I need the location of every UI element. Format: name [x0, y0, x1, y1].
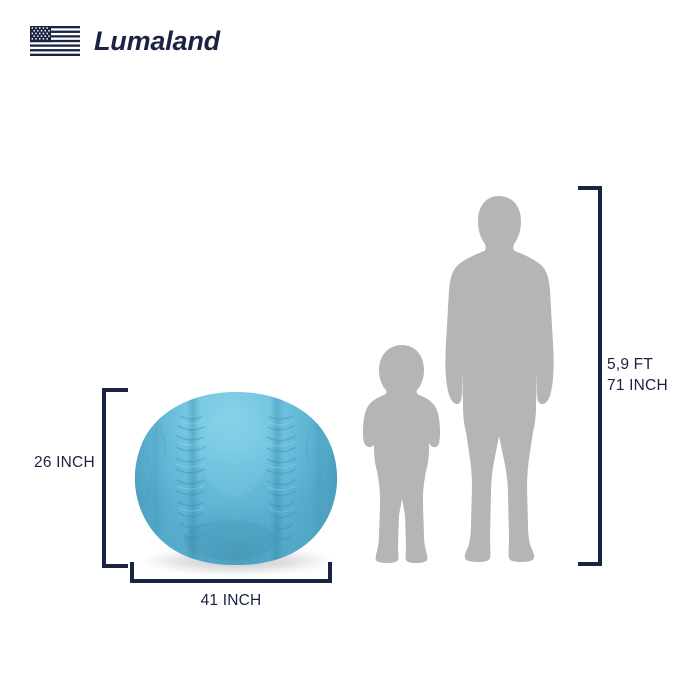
person-height-inch: 71 INCH — [607, 376, 668, 397]
beanbag-height-label: 26 INCH — [34, 454, 95, 472]
product-dimension-infographic: Lumaland — [0, 0, 700, 700]
height-dimension-bracket — [100, 388, 130, 568]
adult-person-silhouette — [437, 194, 561, 564]
product-image-beanbag — [128, 386, 344, 576]
width-dimension-bracket — [130, 562, 332, 584]
person-height-label: 5,9 FT 71 INCH — [607, 355, 668, 397]
beanbag-width-label: 41 INCH — [201, 592, 262, 610]
child-person-silhouette — [360, 343, 444, 564]
us-flag-icon — [30, 26, 80, 56]
brand-name: Lumaland — [94, 28, 220, 55]
person-height-dimension-bracket — [578, 186, 604, 566]
brand-logo: Lumaland — [30, 26, 220, 56]
person-height-feet: 5,9 FT — [607, 355, 668, 376]
